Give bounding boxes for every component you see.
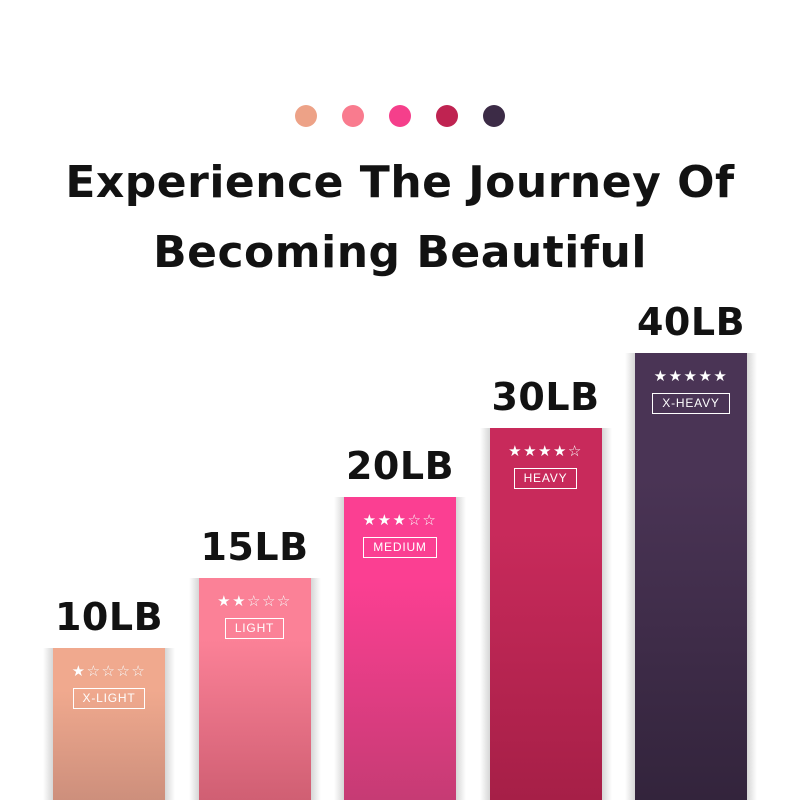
bar-weight-label: 20LB	[346, 447, 454, 485]
bar-weight-label: 40LB	[637, 303, 745, 341]
bar-weight-label: 30LB	[491, 378, 599, 416]
bar-weight-label: 10LB	[55, 598, 163, 636]
title-line-2: Becoming Beautiful	[0, 218, 800, 288]
star-rating-icon: ★★★☆☆	[363, 513, 438, 528]
bar-column-heavy[interactable]: 30LB★★★★☆HEAVY	[490, 378, 602, 800]
resistance-tag: HEAVY	[514, 468, 578, 489]
resistance-tag: X-HEAVY	[652, 393, 729, 414]
bar[interactable]: ★☆☆☆☆X-LIGHT	[53, 648, 165, 800]
title-line-1: Experience The Journey Of	[0, 148, 800, 218]
page-title: Experience The Journey Of Becoming Beaut…	[0, 148, 800, 288]
resistance-tag: LIGHT	[225, 618, 284, 639]
dot-medium-icon	[389, 105, 411, 127]
star-rating-icon: ★★★★★	[654, 369, 729, 384]
bar-column-light[interactable]: 15LB★★☆☆☆LIGHT	[199, 528, 311, 800]
bar-column-x-light[interactable]: 10LB★☆☆☆☆X-LIGHT	[53, 598, 165, 800]
bar[interactable]: ★★☆☆☆LIGHT	[199, 578, 311, 800]
bar-column-x-heavy[interactable]: 40LB★★★★★X-HEAVY	[635, 303, 747, 800]
bar[interactable]: ★★★★☆HEAVY	[490, 428, 602, 800]
resistance-bar-chart: 10LB★☆☆☆☆X-LIGHT15LB★★☆☆☆LIGHT20LB★★★☆☆M…	[53, 280, 747, 800]
bar[interactable]: ★★★★★X-HEAVY	[635, 353, 747, 800]
dot-x-light-icon	[295, 105, 317, 127]
bar[interactable]: ★★★☆☆MEDIUM	[344, 497, 456, 800]
resistance-tag: X-LIGHT	[73, 688, 146, 709]
color-dot-row	[0, 105, 800, 127]
bar-weight-label: 15LB	[200, 528, 308, 566]
promo-graphic: Experience The Journey Of Becoming Beaut…	[0, 0, 800, 800]
star-rating-icon: ★★☆☆☆	[217, 594, 292, 609]
dot-heavy-icon	[436, 105, 458, 127]
dot-x-heavy-icon	[483, 105, 505, 127]
bar-column-medium[interactable]: 20LB★★★☆☆MEDIUM	[344, 447, 456, 800]
dot-light-icon	[342, 105, 364, 127]
resistance-tag: MEDIUM	[363, 537, 436, 558]
star-rating-icon: ★☆☆☆☆	[72, 664, 147, 679]
star-rating-icon: ★★★★☆	[508, 444, 583, 459]
